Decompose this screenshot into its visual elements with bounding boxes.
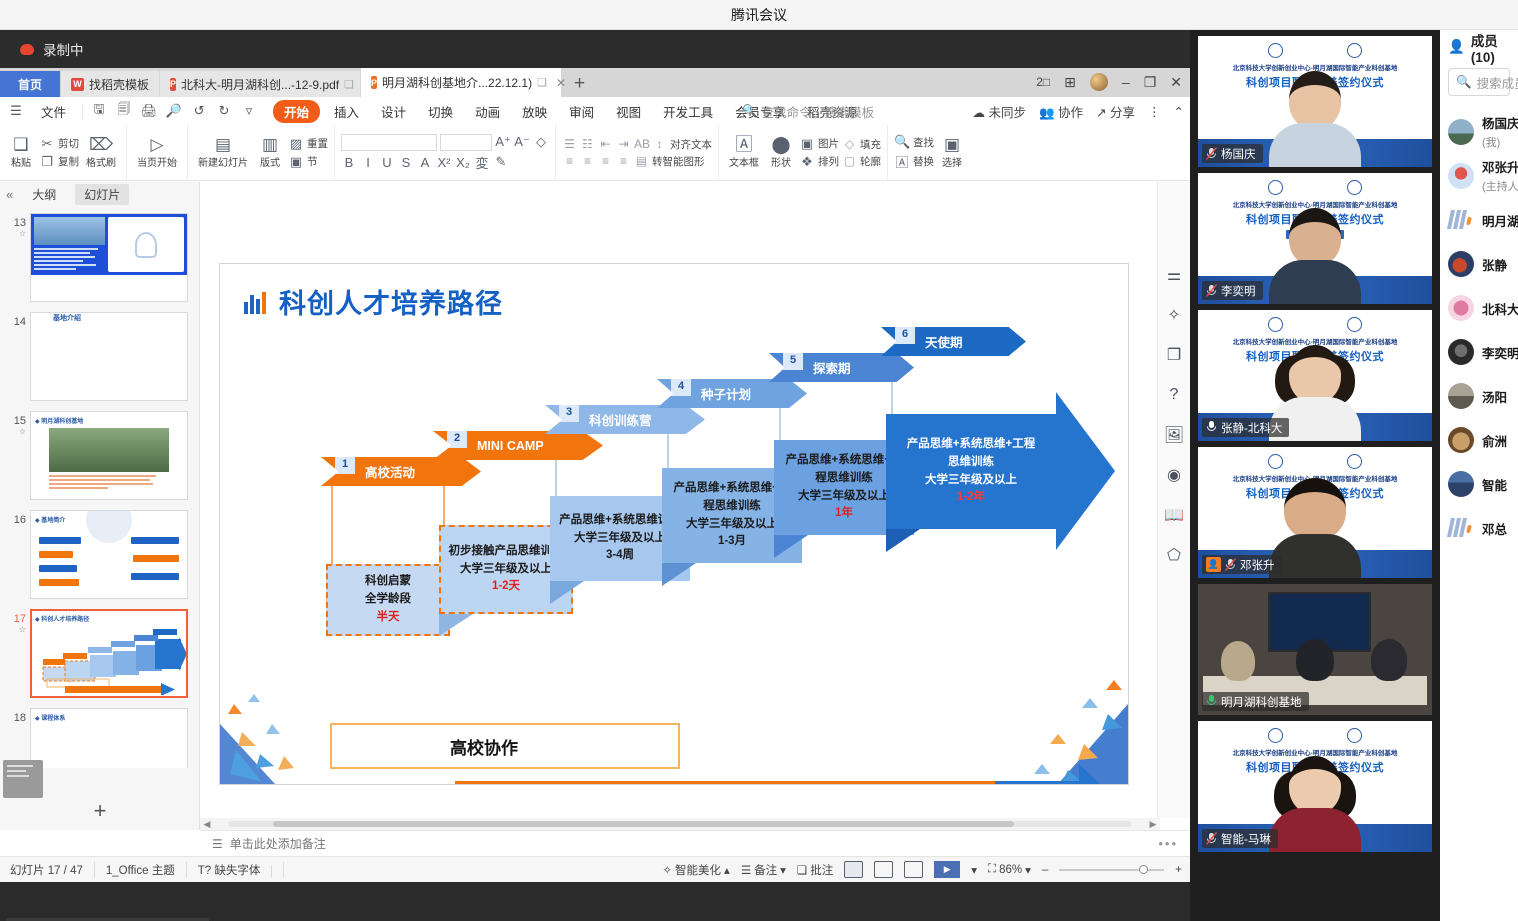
ppt-icon: P	[371, 76, 377, 89]
excellence-academy-bar: 卓越工程师学院	[455, 781, 995, 785]
replace-icon: 🄰	[894, 152, 910, 171]
convert-to-smartart-button[interactable]: 转智能图形	[652, 154, 705, 169]
justify-icon[interactable]: ≡	[616, 154, 631, 168]
video-name-badge: 👤 邓张升	[1202, 555, 1282, 574]
menu-transition[interactable]: 切换	[420, 100, 461, 123]
zoom-out-button[interactable]: –	[1042, 864, 1048, 876]
section-button[interactable]: ▣ 节	[288, 154, 328, 170]
organization-logo-icon	[1448, 517, 1474, 539]
video-tile-column[interactable]: 北京科技大学创新创业中心-明月湖国际智能产业科创基地 科创项目联合培养签约仪式 …	[1190, 30, 1440, 921]
person-icon: 👤	[1448, 39, 1465, 55]
select-button[interactable]: ▣ 选择	[937, 134, 967, 171]
search-input[interactable]: 🔍 搜索成员	[1448, 68, 1510, 96]
ribbon-group-start-show: ▷ 当页开始	[127, 125, 188, 181]
copy-button[interactable]: ❐ 复制	[39, 154, 79, 170]
shape-icon: ⬤	[771, 136, 790, 153]
scissors-icon: ✂	[39, 136, 55, 152]
share-footer: 🖥 明月湖科创基地的屏幕共享	[0, 882, 1190, 921]
participants-header: 👤 成员(10)	[1440, 30, 1518, 64]
ribbon-group-insert: 🄰 文本框 ⬤ 形状 ▣ 图片 ❖ 排列	[719, 125, 888, 181]
tab-home[interactable]: 首页	[0, 71, 60, 97]
thumbnail-pane-header: « 大纲 幻灯片	[0, 182, 199, 206]
search-placeholder: 搜索成员	[1477, 73, 1518, 92]
section-icon: ▣	[288, 154, 304, 170]
decrease-font-size-icon[interactable]: A⁻	[514, 134, 530, 150]
new-slide-button[interactable]: ▤ 新建幻灯片	[194, 134, 252, 171]
picture-icon: ▣	[799, 136, 815, 152]
right-tool-rail[interactable]: ⚌ ✧ ❐ ? 🖼 ◉ 📖 ⬠	[1157, 182, 1190, 818]
add-slide-button[interactable]: +	[0, 798, 200, 824]
outcome-arrow-head	[1079, 764, 1123, 785]
recording-bar: 录制中	[0, 30, 1190, 68]
avatar	[1448, 383, 1474, 409]
fill-icon: ◇	[842, 137, 857, 151]
slide-content[interactable]: 科创人才培养路径 1 高校活动 2 MI	[219, 263, 1129, 785]
zoom-level: 86%	[999, 864, 1022, 876]
find-button[interactable]: 🔍 查找	[894, 134, 934, 150]
start-slideshow-button[interactable]: ▶	[934, 861, 960, 878]
microphone-muted-icon	[1206, 284, 1217, 297]
menu-start[interactable]: 开始	[273, 100, 320, 123]
video-tile-5[interactable]: 北京科技大学创新创业中心-明月湖国际智能产业科创基地 科创项目联合培养签约仪式 …	[1198, 721, 1432, 852]
slide-sorter-view-button[interactable]	[874, 861, 893, 878]
video-name-badge: 张静-北科大	[1202, 418, 1289, 437]
subscript-icon[interactable]: X₂	[455, 155, 471, 170]
thumbnail-number: 16	[0, 510, 30, 599]
outline-icon: ▢	[842, 154, 857, 168]
align-text-button[interactable]: 对齐文本	[670, 137, 712, 152]
list-item[interactable]: 邓张升 (主持人)	[1440, 154, 1518, 198]
list-item[interactable]: 13☆	[0, 208, 200, 307]
layers-icon[interactable]: ❐	[1165, 346, 1183, 364]
thumbnail-13[interactable]	[30, 213, 188, 302]
list-item[interactable]: 北科大	[1440, 286, 1518, 330]
scroll-left-icon[interactable]: ◀	[200, 819, 214, 830]
normal-view-button[interactable]	[844, 861, 863, 878]
missing-font-status[interactable]: T? 缺失字体	[187, 862, 285, 878]
collapse-pane-icon[interactable]: «	[6, 187, 13, 202]
thumbnail-17-selected[interactable]: ◆ 科创人才培养路径	[30, 609, 188, 698]
slide-canvas-area[interactable]: 科创人才培养路径 1 高校活动 2 MI	[200, 182, 1190, 830]
list-item[interactable]: 14 03基地介绍	[0, 307, 200, 406]
participants-list[interactable]: 杨国庆 (我) 邓张升 (主持人) 明月湖科创基地 张静	[1440, 100, 1518, 550]
menu-animation[interactable]: 动画	[467, 100, 508, 123]
help-icon[interactable]: ?	[1165, 386, 1183, 404]
increase-indent-icon[interactable]: ⇥	[616, 137, 631, 151]
text-box-button[interactable]: 🄰 文本框	[725, 134, 763, 171]
list-item[interactable]: 杨国庆 (我)	[1440, 110, 1518, 154]
menu-developer-tools[interactable]: 开发工具	[655, 100, 721, 123]
list-item[interactable]: 17☆ ◆ 科创人才培养路径	[0, 604, 200, 703]
thumbnail-popup-overlay[interactable]	[3, 760, 43, 798]
share-button[interactable]: ↗ 分享	[1096, 102, 1135, 121]
reset-button[interactable]: ▨ 重置	[288, 136, 328, 152]
video-name-badge: 明月湖科创基地	[1202, 692, 1309, 711]
search-icon: 🔍	[1456, 75, 1472, 90]
avatar	[1448, 251, 1474, 277]
microphone-muted-icon	[1225, 558, 1236, 571]
monitor-icon[interactable]: ❑	[537, 76, 547, 89]
notes-placeholder: 单击此处添加备注	[230, 835, 326, 852]
tab-pdf-document[interactable]: P 北科大-明月湖科创...-12-9.pdf ❑	[160, 71, 360, 97]
copy-icon: ❐	[39, 154, 55, 170]
microphone-muted-icon	[1206, 832, 1217, 845]
tab-outline[interactable]: 大纲	[23, 184, 65, 205]
wps-icon: W	[71, 78, 84, 91]
new-slide-icon: ▤	[215, 136, 231, 153]
align-right-icon[interactable]: ≡	[598, 154, 613, 168]
command-search[interactable]: 🔍 查找命令、搜索模板	[742, 97, 874, 125]
underline-icon[interactable]: U	[379, 155, 395, 170]
video-tile-0[interactable]: 北京科技大学创新创业中心-明月湖国际智能产业科创基地 科创项目联合培养签约仪式 …	[1198, 36, 1432, 167]
avatar	[1448, 339, 1474, 365]
magic-star-icon[interactable]: ✧	[1165, 306, 1183, 324]
new-tab-button[interactable]: +	[562, 71, 597, 97]
tab-active-presentation[interactable]: P 明月湖科创基地介...22.12.1) ❑ ✕	[361, 68, 561, 97]
tab-template-store[interactable]: W 找稻壳模板	[61, 71, 159, 97]
play-circle-icon: ▷	[150, 136, 163, 153]
ribbon-group-paragraph: ☰ ☷ ⇤ ⇥ AB ↕ 对齐文本 ≡ ≡ ≡ ≡ ▤ 转智能图形	[556, 125, 719, 181]
ribbon-group-slides: ▤ 新建幻灯片 ▥ 版式 ▨ 重置 ▣ 节	[188, 125, 335, 181]
thumbnail-number: 14	[0, 312, 30, 401]
slideshow-dropdown-icon[interactable]: ▾	[971, 863, 977, 877]
menu-view[interactable]: 视图	[608, 100, 649, 123]
avatar	[1448, 119, 1474, 145]
notes-more-icon[interactable]: •••	[1158, 836, 1178, 851]
list-item[interactable]: 汤阳	[1440, 374, 1518, 418]
minimize-button[interactable]: –	[1122, 74, 1130, 90]
video-tile-3[interactable]: 北京科技大学创新创业中心-明月湖国际智能产业科创基地 科创项目联合培养签约仪式 …	[1198, 447, 1432, 578]
pdf-icon: P	[170, 78, 176, 91]
avatar	[1448, 295, 1474, 321]
menu-file[interactable]: 文件	[33, 100, 74, 123]
grid-view-icon[interactable]: ⊞	[1064, 74, 1076, 91]
window-controls[interactable]: 2□ ⊞ – ❐ ✕	[1036, 69, 1182, 95]
participant-video-figure	[1269, 71, 1361, 167]
recording-label: 录制中	[43, 39, 84, 59]
menu-design[interactable]: 设计	[373, 100, 414, 123]
menu-insert[interactable]: 插入	[326, 100, 367, 123]
clear-format-icon[interactable]: ◇	[533, 134, 549, 150]
redo-icon[interactable]: ↻	[216, 103, 232, 119]
avatar[interactable]	[1090, 73, 1108, 91]
hamburger-icon[interactable]: ☰	[8, 103, 24, 119]
participant-video-figure	[1269, 478, 1361, 578]
bold-icon[interactable]: B	[341, 155, 357, 170]
book-icon[interactable]: 📖	[1165, 506, 1183, 524]
increase-font-size-icon[interactable]: A⁺	[495, 134, 511, 150]
avatar	[1448, 427, 1474, 453]
arrange-icon: ❖	[799, 154, 815, 170]
notes-icon: ☰	[741, 863, 751, 877]
arrange-button[interactable]: ❖ 排列	[799, 154, 839, 170]
collapse-ribbon-icon[interactable]: ⌃	[1174, 104, 1184, 119]
thumbnail-number: 15☆	[0, 411, 30, 500]
meeting-title-bar: 腾讯会议	[0, 0, 1518, 30]
thumbnail-15[interactable]: ◆ 明月湖科创基地	[30, 411, 188, 500]
smart-beautify-button[interactable]: ✧ 智能美化▴	[662, 862, 729, 878]
theme-name[interactable]: 1_Office 主题	[95, 862, 187, 878]
participants-panel[interactable]: 👤 成员(10) 🔍 搜索成员 杨国庆 (我) 邓张升 (主持人)	[1440, 30, 1518, 921]
video-name-badge: 李奕明	[1202, 281, 1263, 300]
menu-slideshow[interactable]: 放映	[514, 100, 555, 123]
status-bar: 幻灯片 17 / 47 1_Office 主题 T? 缺失字体 ✧ 智能美化▴ …	[0, 856, 1190, 882]
participant-video-figure	[1269, 756, 1361, 852]
zoom-in-button[interactable]: +	[1175, 864, 1182, 876]
list-item[interactable]: 15☆ ◆ 明月湖科创基地	[0, 406, 200, 505]
superscript-icon[interactable]: X²	[436, 155, 452, 170]
ribbon-group-font: A⁺ A⁻ ◇ B I U S A X² X₂ 変 ✎	[335, 125, 556, 181]
numbered-list-icon[interactable]: ☷	[580, 137, 595, 151]
menu-review[interactable]: 审阅	[561, 100, 602, 123]
slide-thumbnail-pane[interactable]: « 大纲 幻灯片 13☆	[0, 182, 200, 830]
layout-icon: ▥	[262, 136, 278, 153]
outcome-box: 产品经理 高级工程师	[995, 781, 1079, 785]
list-item[interactable]: 张静	[1440, 242, 1518, 286]
bullet-list-icon[interactable]: ☰	[562, 137, 577, 151]
notes-icon: ☰	[212, 837, 223, 851]
save-as-icon[interactable]: 🗐	[116, 103, 132, 119]
collaboration-box: 高校协作	[330, 723, 680, 769]
italic-icon[interactable]: I	[360, 155, 376, 170]
list-item[interactable]: 18 ◆ 课程体系	[0, 703, 200, 768]
columns-icon[interactable]: ▤	[634, 154, 649, 168]
decrease-indent-icon[interactable]: ⇤	[598, 137, 613, 151]
monitor-icon: ❑	[344, 78, 354, 91]
highlight-icon[interactable]: ✎	[493, 154, 509, 170]
scroll-right-icon[interactable]: ▶	[1146, 819, 1160, 830]
comment-icon: ❏	[797, 863, 807, 877]
fill-button[interactable]: ◇ 填充	[842, 137, 881, 152]
print-icon[interactable]: 🖨	[141, 103, 157, 119]
video-name-badge: 杨国庆	[1202, 144, 1263, 163]
textbox-icon: 🄰	[736, 136, 753, 153]
avatar	[1448, 471, 1474, 497]
layout-button[interactable]: ▥ 版式	[255, 134, 285, 171]
reading-view-button[interactable]	[904, 861, 923, 878]
thumbnail-16[interactable]: ◆ 基地简介	[30, 510, 188, 599]
reset-icon: ▨	[288, 136, 304, 152]
card-shadows	[220, 264, 1129, 785]
dual-screen-icon[interactable]: 2□	[1036, 75, 1050, 89]
menu-right-actions[interactable]: ☁ 未同步 👥 协作 ↗ 分享 ⋮ ⌃	[972, 97, 1184, 125]
ribbon-toolbar[interactable]: ❑ 粘贴 ✂ 剪切 ❐ 复制 ⌦ 格式刷	[0, 125, 1190, 181]
search-icon: 🔍	[742, 104, 758, 119]
undo-icon[interactable]: ↺	[191, 103, 207, 119]
phonetic-icon[interactable]: 変	[474, 153, 490, 172]
list-item[interactable]: 16 ◆ 基地简介	[0, 505, 200, 604]
ribbon-group-clipboard: ❑ 粘贴 ✂ 剪切 ❐ 复制 ⌦ 格式刷	[0, 125, 127, 181]
video-tile-1[interactable]: 北京科技大学创新创业中心-明月湖国际智能产业科创基地 科创项目联合培养签约仪式 …	[1198, 173, 1432, 304]
text-direction-icon[interactable]: AB	[634, 137, 649, 151]
image-resource-icon[interactable]: 🖼	[1165, 426, 1183, 444]
slide-counter: 幻灯片 17 / 47	[10, 862, 95, 878]
align-left-icon[interactable]: ≡	[562, 154, 577, 168]
customize-toolbar-icon[interactable]: ▿	[241, 103, 257, 119]
settings-sliders-icon[interactable]: ⚌	[1165, 266, 1183, 284]
host-icon: 👤	[1206, 557, 1221, 572]
video-name-badge: 智能-马琳	[1202, 829, 1278, 848]
microphone-icon	[1206, 420, 1217, 436]
comments-button[interactable]: ❏ 批注	[797, 862, 833, 878]
line-spacing-icon[interactable]: ↕	[652, 137, 667, 151]
notes-toggle-button[interactable]: ☰ 备注▾	[741, 862, 786, 878]
font-size-select[interactable]	[440, 134, 492, 151]
replace-button[interactable]: 🄰 替换	[894, 152, 934, 171]
paste-icon: ❑	[13, 136, 28, 153]
save-icon[interactable]: 🖫	[91, 103, 107, 119]
beautify-icon: ✧	[662, 863, 672, 877]
thumbnail-14[interactable]: 03基地介绍	[30, 312, 188, 401]
microphone-muted-icon	[1206, 147, 1217, 160]
participant-video-figure	[1269, 208, 1361, 304]
sync-status[interactable]: ☁ 未同步	[972, 102, 1026, 121]
align-center-icon[interactable]: ≡	[580, 154, 595, 168]
idea-lightbulb-icon[interactable]: ◉	[1165, 466, 1183, 484]
microphone-icon	[1206, 694, 1217, 710]
font-name-select[interactable]	[341, 134, 437, 151]
recording-indicator-icon	[20, 44, 34, 55]
strikethrough-icon[interactable]: S	[398, 155, 414, 170]
more-options-icon[interactable]: ⋮	[1148, 104, 1161, 119]
meeting-app-title: 腾讯会议	[731, 5, 787, 25]
video-tile-2[interactable]: 北京科技大学创新创业中心-明月湖国际智能产业科创基地 科创项目联合培养签约仪式 …	[1198, 310, 1432, 441]
shapes-icon[interactable]: ⬠	[1165, 546, 1183, 564]
list-item[interactable]: 明月湖科创基地	[1440, 198, 1518, 242]
list-item[interactable]: 智能	[1440, 462, 1518, 506]
select-icon: ▣	[944, 136, 960, 153]
start-from-current-slide-button[interactable]: ▷ 当页开始	[133, 134, 181, 171]
close-button[interactable]: ✕	[1170, 74, 1182, 91]
document-tab-strip[interactable]: 首页 W 找稻壳模板 P 北科大-明月湖科创...-12-9.pdf ❑ P 明…	[0, 68, 1190, 97]
video-tile-4[interactable]: 明月湖科创基地	[1198, 584, 1432, 715]
print-preview-icon[interactable]: 🔎	[166, 103, 182, 119]
canvas-horizontal-scrollbar[interactable]: ◀ ▶	[200, 818, 1160, 830]
collaboration-label: 高校协作	[450, 734, 518, 759]
collaborate-button[interactable]: 👥 协作	[1039, 102, 1083, 121]
notes-bar[interactable]: ☰ 单击此处添加备注	[200, 830, 1190, 856]
shape-button[interactable]: ⬤ 形状	[766, 134, 796, 171]
list-item[interactable]: 邓总	[1440, 506, 1518, 550]
participants-count: 成员(10)	[1471, 30, 1518, 65]
shared-screen-region: 录制中 首页 W 找稻壳模板 P 北科大-明月湖科创...-12-9.pdf ❑…	[0, 30, 1190, 890]
list-item[interactable]: 李奕明	[1440, 330, 1518, 374]
thumbnail-number: 18	[0, 708, 30, 768]
zoom-slider[interactable]	[1059, 869, 1164, 871]
fit-icon: ⛶	[988, 863, 996, 876]
thumbnail-list[interactable]: 13☆ 14 03基地介绍	[0, 208, 200, 768]
text-effect-icon[interactable]: A	[417, 155, 433, 170]
restore-button[interactable]: ❐	[1144, 74, 1157, 91]
list-item[interactable]: 俞洲	[1440, 418, 1518, 462]
command-search-placeholder: 查找命令、搜索模板	[762, 102, 875, 121]
thumbnail-number: 13☆	[0, 213, 30, 302]
fit-to-window-button[interactable]: ⛶ 86%▾	[988, 863, 1031, 877]
organization-logo-icon	[1448, 209, 1474, 231]
avatar	[1448, 163, 1474, 189]
ribbon-group-editing: 🔍 查找 🄰 替换 ▣ 选择	[888, 125, 973, 181]
thumbnail-18[interactable]: ◆ 课程体系	[30, 708, 188, 768]
format-painter-button[interactable]: ⌦ 格式刷	[82, 134, 120, 171]
paste-button[interactable]: ❑ 粘贴	[6, 134, 36, 171]
brush-icon: ⌦	[89, 136, 113, 153]
picture-button[interactable]: ▣ 图片	[799, 136, 839, 152]
thumbnail-number: 17☆	[0, 609, 30, 698]
tab-slides[interactable]: 幻灯片	[75, 184, 129, 205]
outline-button[interactable]: ▢ 轮廓	[842, 154, 881, 169]
search-icon: 🔍	[894, 134, 910, 150]
cut-button[interactable]: ✂ 剪切	[39, 136, 79, 152]
